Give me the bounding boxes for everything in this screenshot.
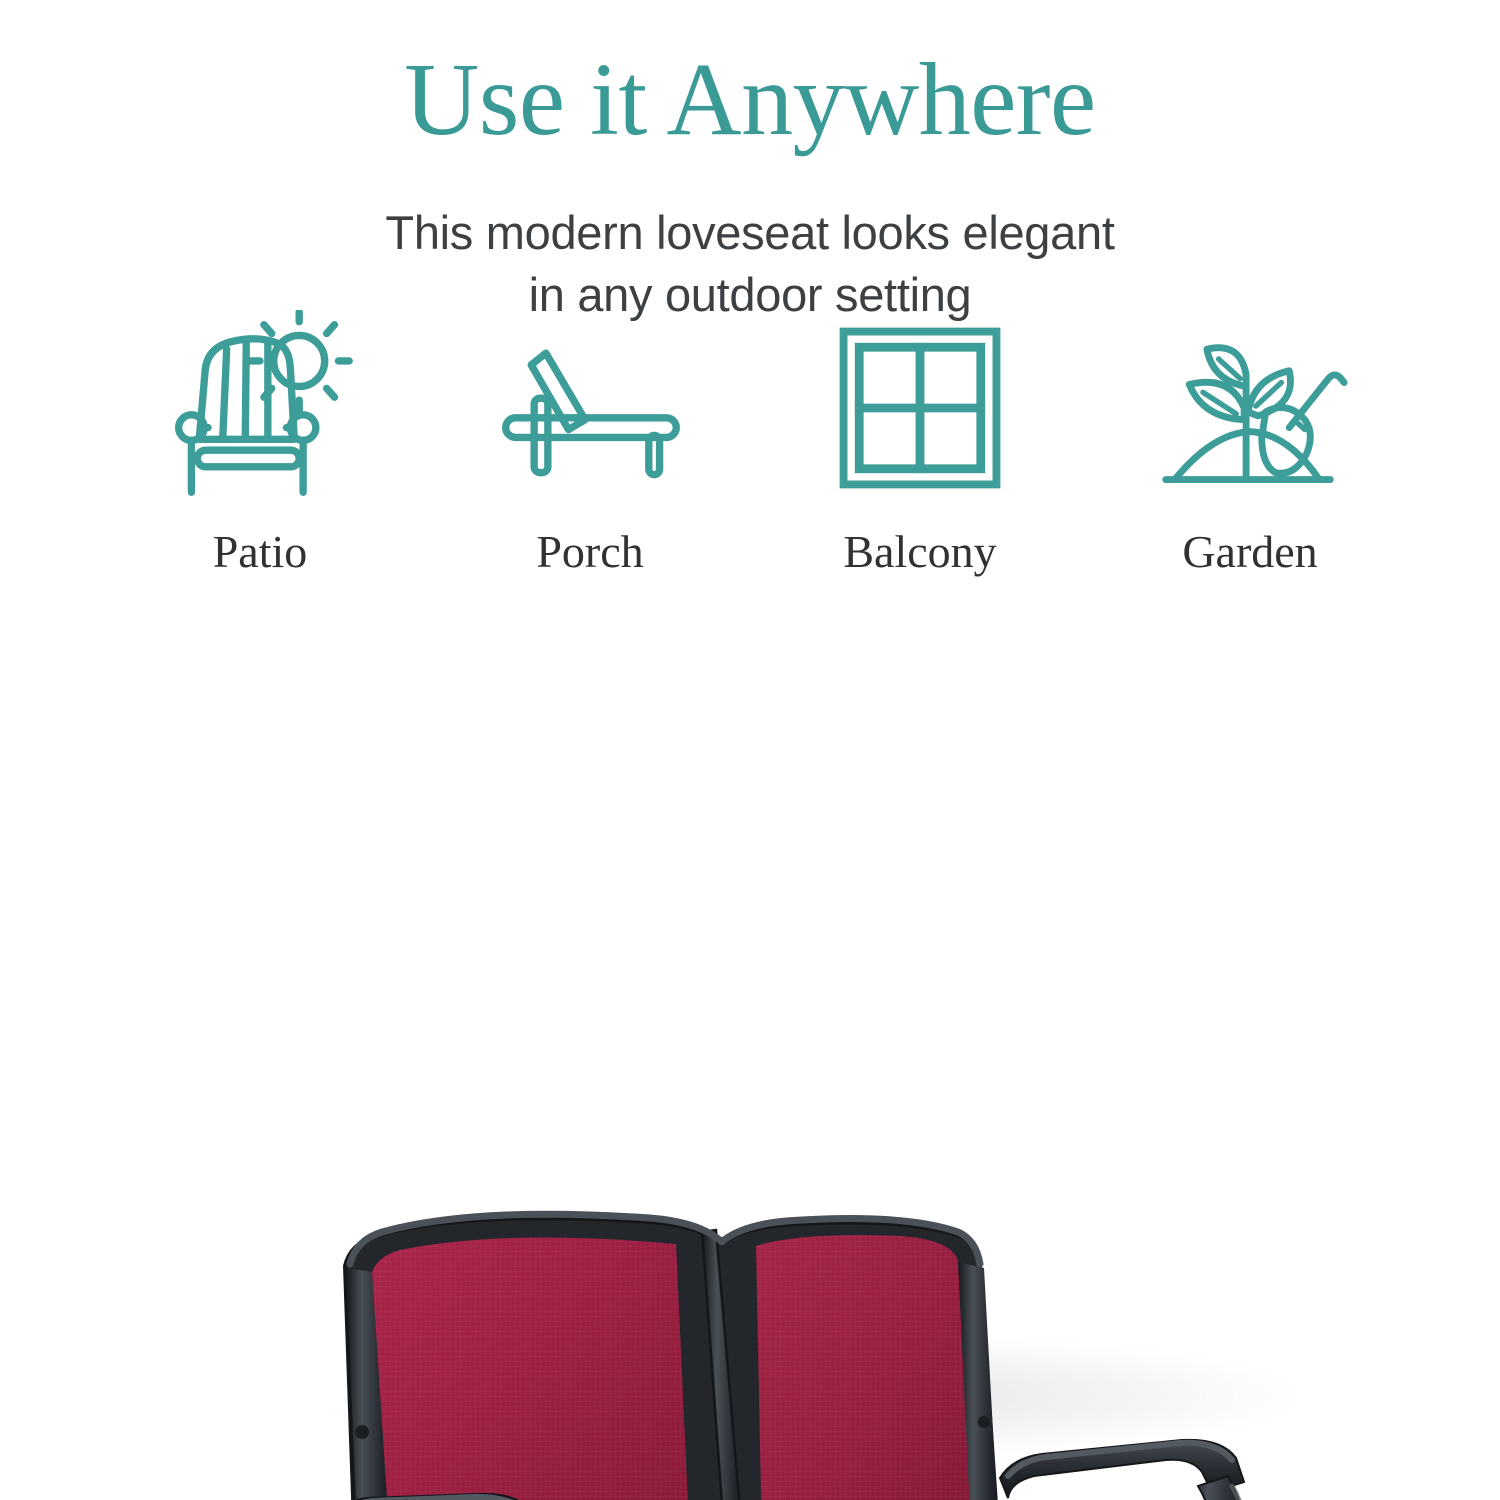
product-image-stage — [0, 596, 1500, 1500]
use-case-label-patio: Patio — [213, 526, 308, 578]
use-case-label-porch: Porch — [536, 526, 643, 578]
subtitle-line-1: This modern loveseat looks elegant — [385, 206, 1114, 259]
backrest-assembly — [345, 1214, 1000, 1500]
use-case-item-garden: Garden — [1100, 310, 1400, 578]
outdoor-loveseat-glider-bench-image — [0, 596, 1500, 1500]
right-armrest — [1000, 1440, 1251, 1500]
page-title: Use it Anywhere — [0, 44, 1500, 156]
page-subtitle: This modern loveseat looks elegant in an… — [0, 202, 1500, 326]
use-case-icon-row: Patio Porch — [110, 310, 1400, 590]
use-case-label-garden: Garden — [1182, 526, 1317, 578]
window-pane-icon — [822, 310, 1018, 506]
use-case-item-balcony: Balcony — [770, 310, 1070, 578]
use-case-item-porch: Porch — [440, 310, 740, 578]
use-case-item-patio: Patio — [110, 310, 410, 578]
lounge-chaise-icon — [492, 310, 688, 506]
product-marketing-page: Use it Anywhere This modern loveseat loo… — [0, 0, 1500, 1500]
plant-shovel-icon — [1152, 310, 1348, 506]
adirondack-chair-sun-icon — [162, 310, 358, 506]
use-case-label-balcony: Balcony — [843, 526, 996, 578]
